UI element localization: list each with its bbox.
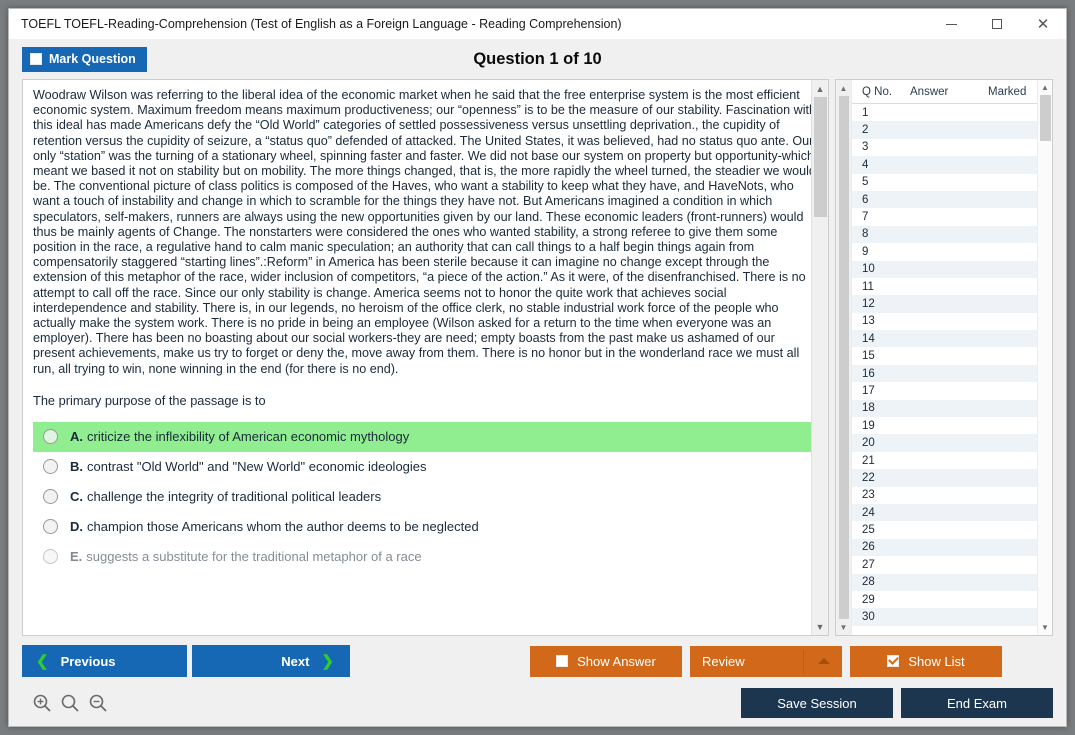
- save-session-label: Save Session: [777, 696, 857, 711]
- show-answer-label: Show Answer: [577, 654, 656, 669]
- question-list-row[interactable]: 21: [852, 452, 1037, 469]
- window-controls: ✕: [928, 9, 1066, 39]
- scroll-up-icon[interactable]: ▲: [812, 80, 828, 97]
- question-list-row[interactable]: 6: [852, 191, 1037, 208]
- review-label: Review: [702, 654, 745, 669]
- question-list-row[interactable]: 3: [852, 139, 1037, 156]
- question-list-row[interactable]: 4: [852, 156, 1037, 173]
- end-exam-button[interactable]: End Exam: [901, 688, 1053, 718]
- question-grid: Q No. Answer Marked 12345678910111213141…: [852, 80, 1037, 635]
- question-number-cell: 25: [852, 524, 910, 536]
- option-text-c: challenge the integrity of traditional p…: [87, 489, 381, 504]
- question-number-cell: 7: [852, 211, 910, 223]
- question-number-cell: 21: [852, 455, 910, 467]
- question-list-row[interactable]: 24: [852, 504, 1037, 521]
- zoom-in-icon[interactable]: [32, 693, 52, 713]
- question-list-row[interactable]: 17: [852, 382, 1037, 399]
- zoom-reset-icon[interactable]: [60, 693, 80, 713]
- answer-option-a[interactable]: A. criticize the inflexibility of Americ…: [33, 422, 818, 452]
- option-text-a: criticize the inflexibility of American …: [87, 429, 409, 444]
- question-number-cell: 17: [852, 385, 910, 397]
- question-list-row[interactable]: 13: [852, 313, 1037, 330]
- question-number-cell: 23: [852, 489, 910, 501]
- list-inner-scrollbar[interactable]: ▲ ▼: [1037, 80, 1052, 635]
- question-list-pane: ▲ ▼ Q No. Answer Marked 1234567891011121…: [835, 79, 1053, 636]
- session-buttons: Save Session End Exam: [741, 688, 1053, 718]
- question-number-cell: 12: [852, 298, 910, 310]
- list-scroll-thumb[interactable]: [1040, 95, 1051, 141]
- question-list-row[interactable]: 18: [852, 400, 1037, 417]
- question-list-row[interactable]: 12: [852, 295, 1037, 312]
- next-label: Next: [281, 654, 309, 669]
- radio-icon-e[interactable]: [43, 549, 58, 564]
- question-number-cell: 24: [852, 507, 910, 519]
- question-number-cell: 3: [852, 141, 910, 153]
- question-list-row[interactable]: 26: [852, 539, 1037, 556]
- option-letter-d: D.: [70, 519, 83, 534]
- option-text-e: suggests a substitute for the traditiona…: [86, 549, 421, 564]
- question-number-cell: 5: [852, 176, 910, 188]
- question-list-row[interactable]: 20: [852, 434, 1037, 451]
- list-outer-scrollbar[interactable]: ▲ ▼: [836, 80, 852, 635]
- footer-row-secondary: Save Session End Exam: [22, 688, 1053, 718]
- question-list-row[interactable]: 16: [852, 365, 1037, 382]
- question-list-row[interactable]: 23: [852, 487, 1037, 504]
- maximize-icon: [992, 19, 1002, 29]
- mark-question-label: Mark Question: [49, 52, 136, 66]
- question-number-cell: 30: [852, 611, 910, 623]
- question-number-cell: 26: [852, 541, 910, 553]
- option-letter-e: E.: [70, 549, 82, 564]
- maximize-button[interactable]: [974, 9, 1020, 39]
- question-list-row[interactable]: 14: [852, 330, 1037, 347]
- question-number-cell: 10: [852, 263, 910, 275]
- radio-icon-b[interactable]: [43, 459, 58, 474]
- option-letter-b: B.: [70, 459, 83, 474]
- column-header-answer: Answer: [910, 86, 988, 98]
- question-counter-heading: Question 1 of 10: [9, 50, 1066, 69]
- question-number-cell: 4: [852, 159, 910, 171]
- list-scroll-up-icon[interactable]: ▲: [1038, 80, 1052, 95]
- chevron-right-icon: ❯: [321, 654, 334, 669]
- question-list-row[interactable]: 2: [852, 121, 1037, 138]
- column-header-marked: Marked: [988, 86, 1037, 98]
- question-number-cell: 14: [852, 333, 910, 345]
- question-list-row[interactable]: 19: [852, 417, 1037, 434]
- question-number-cell: 22: [852, 472, 910, 484]
- question-grid-rows[interactable]: 1234567891011121314151617181920212223242…: [852, 104, 1037, 635]
- answer-option-b[interactable]: B. contrast "Old World" and "New World" …: [33, 452, 818, 482]
- question-grid-header: Q No. Answer Marked: [852, 80, 1037, 104]
- list-outer-scroll-up-icon[interactable]: ▲: [836, 80, 851, 96]
- question-list-row[interactable]: 15: [852, 347, 1037, 364]
- question-number-cell: 11: [852, 281, 910, 293]
- question-list-row[interactable]: 22: [852, 469, 1037, 486]
- question-number-cell: 29: [852, 594, 910, 606]
- minimize-button[interactable]: [928, 9, 974, 39]
- review-dropdown-button[interactable]: Review: [690, 646, 842, 677]
- chevron-left-icon: ❮: [36, 654, 49, 669]
- content-scrollbar[interactable]: ▲ ▼: [811, 80, 828, 635]
- main-body: Woodraw Wilson was referring to the libe…: [9, 79, 1066, 636]
- top-toolbar: Mark Question Question 1 of 10: [9, 39, 1066, 79]
- question-number-cell: 13: [852, 315, 910, 327]
- option-text-d: champion those Americans whom the author…: [87, 519, 479, 534]
- question-number-cell: 28: [852, 576, 910, 588]
- scroll-thumb[interactable]: [814, 97, 827, 217]
- mark-question-button[interactable]: Mark Question: [22, 47, 147, 72]
- next-button[interactable]: Next ❯: [192, 645, 350, 677]
- question-number-cell: 6: [852, 194, 910, 206]
- question-list-row[interactable]: 29: [852, 591, 1037, 608]
- window-title: TOEFL TOEFL-Reading-Comprehension (Test …: [9, 17, 622, 31]
- question-list-row[interactable]: 7: [852, 208, 1037, 225]
- question-list-row[interactable]: 8: [852, 226, 1037, 243]
- previous-button[interactable]: ❮ Previous: [22, 645, 187, 677]
- question-number-cell: 20: [852, 437, 910, 449]
- passage-text: Woodraw Wilson was referring to the libe…: [33, 88, 818, 377]
- close-button[interactable]: ✕: [1020, 9, 1066, 39]
- question-number-cell: 1: [852, 107, 910, 119]
- question-number-cell: 2: [852, 124, 910, 136]
- answer-option-c[interactable]: C. challenge the integrity of traditiona…: [33, 482, 818, 512]
- answer-option-d[interactable]: D. champion those Americans whom the aut…: [33, 512, 818, 542]
- question-content-pane: Woodraw Wilson was referring to the libe…: [22, 79, 829, 636]
- question-list-row[interactable]: 25: [852, 521, 1037, 538]
- question-list-row[interactable]: 1: [852, 104, 1037, 121]
- question-number-cell: 15: [852, 350, 910, 362]
- option-letter-c: C.: [70, 489, 83, 504]
- minimize-icon: [946, 24, 957, 25]
- mark-question-checkbox-icon: [30, 53, 42, 65]
- exam-window: TOEFL TOEFL-Reading-Comprehension (Test …: [8, 8, 1067, 727]
- question-number-cell: 8: [852, 228, 910, 240]
- title-bar: TOEFL TOEFL-Reading-Comprehension (Test …: [9, 9, 1066, 39]
- show-list-button[interactable]: Show List: [850, 646, 1002, 677]
- end-exam-label: End Exam: [947, 696, 1007, 711]
- answer-options-list: A. criticize the inflexibility of Americ…: [33, 422, 818, 572]
- radio-icon-a[interactable]: [43, 429, 58, 444]
- question-number-cell: 19: [852, 420, 910, 432]
- question-list-row[interactable]: 11: [852, 278, 1037, 295]
- radio-icon-c[interactable]: [43, 489, 58, 504]
- question-list-row[interactable]: 10: [852, 261, 1037, 278]
- review-divider: [803, 650, 804, 673]
- question-list-row[interactable]: 5: [852, 174, 1037, 191]
- save-session-button[interactable]: Save Session: [741, 688, 893, 718]
- close-icon: ✕: [1037, 17, 1050, 32]
- question-list-row[interactable]: 30: [852, 608, 1037, 625]
- show-answer-button[interactable]: Show Answer: [530, 646, 682, 677]
- radio-icon-d[interactable]: [43, 519, 58, 534]
- footer-row-primary: ❮ Previous Next ❯ Show Answer Review Sho…: [22, 645, 1053, 677]
- question-number-cell: 27: [852, 559, 910, 571]
- show-answer-checkbox-icon: [556, 655, 568, 667]
- answer-option-e[interactable]: E. suggests a substitute for the traditi…: [33, 542, 818, 572]
- question-list-row[interactable]: 28: [852, 574, 1037, 591]
- show-list-label: Show List: [908, 654, 964, 669]
- option-letter-a: A.: [70, 429, 83, 444]
- column-header-qno: Q No.: [852, 86, 910, 98]
- list-outer-scroll-down-icon[interactable]: ▼: [836, 619, 851, 635]
- list-scroll-down-icon[interactable]: ▼: [1038, 620, 1052, 635]
- previous-label: Previous: [61, 654, 116, 669]
- question-list-row[interactable]: 9: [852, 243, 1037, 260]
- question-number-cell: 16: [852, 368, 910, 380]
- chevron-up-icon: [818, 658, 830, 664]
- question-list-row[interactable]: 27: [852, 556, 1037, 573]
- show-list-checkbox-icon: [887, 655, 899, 667]
- footer-toolbar: ❮ Previous Next ❯ Show Answer Review Sho…: [9, 636, 1066, 726]
- option-text-b: contrast "Old World" and "New World" eco…: [87, 459, 427, 474]
- zoom-out-icon[interactable]: [88, 693, 108, 713]
- scroll-down-icon[interactable]: ▼: [812, 618, 828, 635]
- list-outer-scroll-thumb[interactable]: [839, 96, 849, 619]
- question-stem: The primary purpose of the passage is to: [33, 393, 818, 408]
- question-number-cell: 9: [852, 246, 910, 258]
- zoom-controls: [22, 693, 108, 713]
- question-number-cell: 18: [852, 402, 910, 414]
